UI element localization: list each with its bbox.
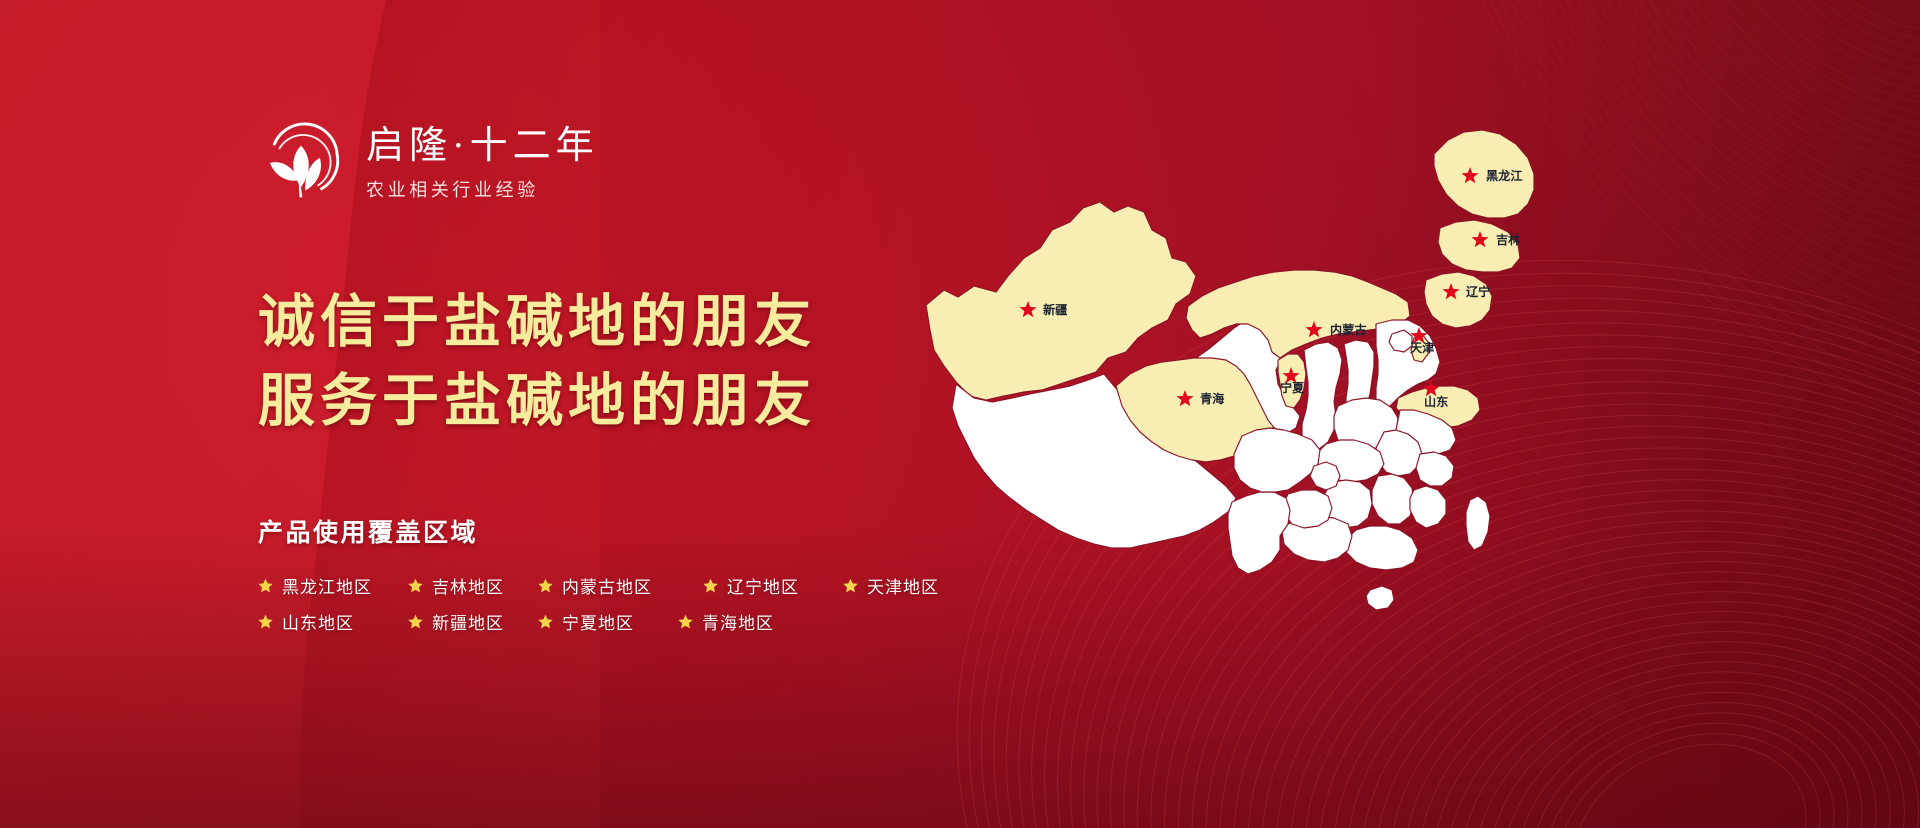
map-province-label: 新疆 xyxy=(1043,302,1067,317)
map-province-yunnan[interactable] xyxy=(1228,492,1290,574)
star-icon xyxy=(408,614,423,629)
coverage-region-item[interactable]: 宁夏地区 xyxy=(538,609,678,634)
map-province-label: 黑龙江 xyxy=(1486,168,1523,183)
hero-banner: 启隆·十二年 农业相关行业经验 诚信于盐碱地的朋友 服务于盐碱地的朋友 产品使用… xyxy=(0,0,1920,828)
star-icon xyxy=(258,578,273,593)
star-icon xyxy=(538,614,553,629)
star-icon xyxy=(843,578,858,593)
map-province-label: 青海 xyxy=(1200,391,1224,406)
map-province-label: 内蒙古 xyxy=(1330,322,1367,337)
map-province-label: 辽宁 xyxy=(1466,284,1490,299)
map-province-fujian[interactable] xyxy=(1410,486,1446,528)
coverage-region-item[interactable]: 青海地区 xyxy=(678,609,818,634)
map-province-chongqing[interactable] xyxy=(1310,462,1340,490)
star-icon xyxy=(538,578,553,593)
coverage-region-label: 吉林地区 xyxy=(432,573,504,598)
map-province-jiangxi[interactable] xyxy=(1372,474,1414,524)
coverage-region-label: 新疆地区 xyxy=(432,609,504,634)
coverage-region-item[interactable]: 内蒙古地区 xyxy=(538,573,703,598)
china-coverage-map: 黑龙江吉林辽宁内蒙古天津山东宁夏新疆青海 xyxy=(900,62,1620,742)
map-province-label: 天津 xyxy=(1410,340,1434,355)
map-province-hainan[interactable] xyxy=(1366,586,1394,610)
map-province-liaoning[interactable] xyxy=(1424,272,1492,328)
coverage-region-item[interactable]: 黑龙江地区 xyxy=(258,573,408,598)
map-province-label: 宁夏 xyxy=(1280,380,1305,395)
coverage-region-label: 辽宁地区 xyxy=(727,573,799,598)
lotus-leaf-circle-icon xyxy=(258,120,344,206)
coverage-region-item[interactable]: 新疆地区 xyxy=(408,609,538,634)
star-icon xyxy=(408,578,423,593)
map-province-guangdong[interactable] xyxy=(1346,526,1418,570)
coverage-region-label: 内蒙古地区 xyxy=(562,573,652,598)
brand-title: 启隆·十二年 xyxy=(366,124,599,169)
map-province-sichuan[interactable] xyxy=(1234,428,1320,492)
coverage-region-label: 宁夏地区 xyxy=(562,609,634,634)
brand-subtitle: 农业相关行业经验 xyxy=(366,176,599,202)
coverage-region-item[interactable]: 吉林地区 xyxy=(408,573,538,598)
map-province-guizhou[interactable] xyxy=(1284,490,1332,528)
map-province-label: 山东 xyxy=(1424,394,1448,409)
coverage-region-item[interactable]: 山东地区 xyxy=(258,609,408,634)
map-province-zhejiang[interactable] xyxy=(1416,452,1454,486)
map-province-label: 吉林 xyxy=(1496,232,1521,247)
coverage-region-label: 黑龙江地区 xyxy=(282,573,372,598)
map-province-taiwan[interactable] xyxy=(1466,496,1490,550)
coverage-region-label: 山东地区 xyxy=(282,609,354,634)
coverage-region-label: 青海地区 xyxy=(702,609,774,634)
star-icon xyxy=(703,578,718,593)
star-icon xyxy=(678,614,693,629)
star-icon xyxy=(258,614,273,629)
coverage-region-item[interactable]: 辽宁地区 xyxy=(703,573,843,598)
